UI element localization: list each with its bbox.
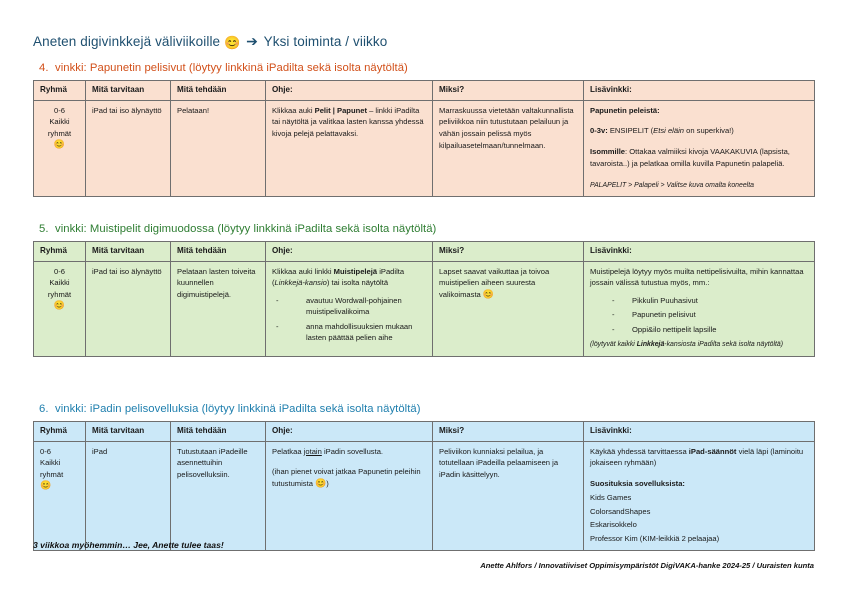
- cell-tarvitaan: iPad: [86, 441, 171, 550]
- ryhma-line2: Kaikki: [40, 457, 79, 469]
- list-item: avautuu Wordwall-pohjainen muistipelival…: [272, 295, 426, 318]
- section-number-6: 6.: [39, 403, 55, 415]
- page-title-prefix: Aneten digivinkkejä väliviikoille: [33, 34, 220, 49]
- ryhma-line2: Kaikki: [40, 277, 79, 289]
- tip-table-4: Ryhmä Mitä tarvitaan Mitä tehdään Ohje: …: [33, 80, 815, 197]
- lisa-app-item: Kids Games: [590, 492, 808, 504]
- lisa-footnote-post: -kansiosta iPadilta sekä isolta näytöltä…: [664, 341, 783, 348]
- ryhma-age: 0-6: [40, 105, 79, 117]
- col-header-ohje: Ohje:: [266, 242, 433, 262]
- cell-tehdaan: Pelataan lasten toiveita kuunnellen digi…: [171, 261, 266, 356]
- col-header-tehdaan: Mitä tehdään: [171, 81, 266, 101]
- lisa-intro: Muistipelejä löytyy myös muilta nettipel…: [590, 266, 808, 290]
- lisa-footnote: (löytyvät kaikki Linkkejä-kansiosta iPad…: [590, 341, 783, 348]
- cell-miksi: Marraskuussa vietetään valtakunnallista …: [433, 100, 584, 197]
- section-tip-6: 6.vinkki: iPadin pelisovelluksia (löytyy…: [33, 403, 814, 551]
- ryhma-age: 0-6: [40, 266, 79, 278]
- col-header-tehdaan: Mitä tehdään: [171, 422, 266, 442]
- lisa-p1-post: on superkiva!): [684, 126, 734, 135]
- ohje-post: iPadin sovellusta.: [322, 447, 383, 456]
- ohje-pre: Klikkaa auki: [272, 106, 315, 115]
- col-header-miksi: Miksi?: [433, 81, 584, 101]
- table-header-row: Ryhmä Mitä tarvitaan Mitä tehdään Ohje: …: [34, 242, 815, 262]
- col-header-ohje: Ohje:: [266, 422, 433, 442]
- lisa-path-hint: PALAPELIT > Palapeli > Valitse kuva omal…: [590, 182, 754, 189]
- arrow-right-icon: ➔: [244, 33, 260, 49]
- smiley-icon: 😊: [40, 140, 79, 149]
- col-header-ohje: Ohje:: [266, 81, 433, 101]
- lisa-age-label: 0-3v:: [590, 126, 608, 135]
- list-item: Pikkulin Puuhasivut: [590, 295, 808, 306]
- lisa-apps-title: Suosituksia sovelluksista:: [590, 479, 685, 488]
- cell-tarvitaan: iPad tai iso älynäyttö: [86, 261, 171, 356]
- footer-note: 3 viikkoa myöhemmin… Jee, Anette tulee t…: [33, 540, 224, 550]
- cell-miksi: Peliviikon kunniaksi pelailua, ja totute…: [433, 441, 584, 550]
- smiley-icon: 😊: [224, 35, 240, 50]
- footer-credit: Anette Ahlfors / Innovatiiviset Oppimisy…: [0, 561, 814, 570]
- lisa-footnote-pre: (löytyvät kaikki: [590, 341, 637, 348]
- lisa-older-label: Isommille: [590, 147, 625, 156]
- cell-ryhma: 0-6 Kaikki ryhmät 😊: [34, 441, 86, 550]
- section-heading-text-6: vinkki: iPadin pelisovelluksia (löytyy l…: [55, 403, 421, 415]
- ohje-pre: Pelatkaa: [272, 447, 304, 456]
- ohje-link-label[interactable]: jotain: [304, 447, 322, 456]
- cell-miksi: Lapset saavat vaikuttaa ja toivoa muisti…: [433, 261, 584, 356]
- list-item: Papunetin pelisivut: [590, 309, 808, 320]
- section-number-5: 5.: [39, 223, 55, 235]
- cell-lisavinkki: Käykää yhdessä tarvittaessa iPad-säännöt…: [584, 441, 815, 550]
- col-header-tarvitaan: Mitä tarvitaan: [86, 422, 171, 442]
- table-row: 0-6 Kaikki ryhmät 😊 iPad tai iso älynäyt…: [34, 100, 815, 197]
- lisa-app-item: Eskarisokkelo: [590, 519, 808, 531]
- ohje-link-label[interactable]: Pelit | Papunet: [315, 106, 367, 115]
- ohje-paren-post: ): [326, 479, 329, 488]
- col-header-tarvitaan: Mitä tarvitaan: [86, 242, 171, 262]
- section-number-4: 4.: [39, 62, 55, 74]
- smiley-icon: 😊: [40, 301, 79, 310]
- col-header-ryhma: Ryhmä: [34, 242, 86, 262]
- col-header-tehdaan: Mitä tehdään: [171, 242, 266, 262]
- lisa-bullet-list: Pikkulin Puuhasivut Papunetin pelisivut …: [590, 295, 808, 335]
- lisa-rules-label: iPad-säännöt: [689, 447, 737, 456]
- cell-ryhma: 0-6 Kaikki ryhmät 😊: [34, 261, 86, 356]
- lisa-title: Papunetin peleistä:: [590, 106, 660, 115]
- ohje-folder-name: Linkkejä-kansio: [275, 278, 327, 287]
- section-heading-6: 6.vinkki: iPadin pelisovelluksia (löytyy…: [33, 403, 814, 415]
- table-header-row: Ryhmä Mitä tarvitaan Mitä tehdään Ohje: …: [34, 81, 815, 101]
- col-header-miksi: Miksi?: [433, 422, 584, 442]
- cell-tehdaan: Tutustutaan iPadeille asennettuihin peli…: [171, 441, 266, 550]
- document-page: Aneten digivinkkejä väliviikoille 😊 ➔ Yk…: [0, 0, 842, 595]
- col-header-tarvitaan: Mitä tarvitaan: [86, 81, 171, 101]
- col-header-ryhma: Ryhmä: [34, 81, 86, 101]
- table-header-row: Ryhmä Mitä tarvitaan Mitä tehdään Ohje: …: [34, 422, 815, 442]
- cell-ohje: Pelatkaa jotain iPadin sovellusta. (ihan…: [266, 441, 433, 550]
- ohje-bullet-list: avautuu Wordwall-pohjainen muistipelival…: [272, 295, 426, 344]
- list-item: Oppi&ilo nettipelit lapsille: [590, 324, 808, 335]
- cell-lisavinkki: Muistipelejä löytyy myös muilta nettipel…: [584, 261, 815, 356]
- cell-ohje: Klikkaa auki Pelit | Papunet – linkki iP…: [266, 100, 433, 197]
- cell-tarvitaan: iPad tai iso älynäyttö: [86, 100, 171, 197]
- lisa-app-item: ColorsandShapes: [590, 506, 808, 518]
- lisa-app-item: Professor Kim (KIM-leikkiä 2 pelaajaa): [590, 533, 808, 545]
- table-row: 0-6 Kaikki ryhmät 😊 iPad tai iso älynäyt…: [34, 261, 815, 356]
- lisa-game-name: Etsi eläin: [653, 126, 684, 135]
- lisa-p1-pre: Käykää yhdessä tarvittaessa: [590, 447, 689, 456]
- lisa-footnote-folder: Linkkejä: [637, 341, 665, 348]
- section-heading-text-4: vinkki: Papunetin pelisivut (löytyy link…: [55, 62, 408, 74]
- lisa-p1-pre: ENSIPELIT (: [608, 126, 653, 135]
- ohje-post: ) tai isolta näytöltä: [327, 278, 388, 287]
- col-header-miksi: Miksi?: [433, 242, 584, 262]
- ohje-link-label[interactable]: Muistipelejä: [334, 267, 377, 276]
- ryhma-age: 0-6: [40, 446, 79, 458]
- page-title: Aneten digivinkkejä väliviikoille 😊 ➔ Yk…: [33, 33, 387, 51]
- tip-table-6: Ryhmä Mitä tarvitaan Mitä tehdään Ohje: …: [33, 421, 815, 551]
- list-item: anna mahdollisuuksien mukaan lasten päät…: [272, 321, 426, 344]
- page-title-suffix: Yksi toiminta / viikko: [264, 34, 388, 49]
- section-heading-5: 5.vinkki: Muistipelit digimuodossa (löyt…: [33, 223, 814, 235]
- smiley-icon: 😊: [315, 478, 326, 488]
- section-heading-4: 4.vinkki: Papunetin pelisivut (löytyy li…: [33, 62, 814, 74]
- section-tip-5: 5.vinkki: Muistipelit digimuodossa (löyt…: [33, 223, 814, 357]
- ohje-paren-pre: (ihan pienet voivat jatkaa Papunetin pel…: [272, 467, 421, 488]
- cell-lisavinkki: Papunetin peleistä: 0-3v: ENSIPELIT (Ets…: [584, 100, 815, 197]
- tip-table-5: Ryhmä Mitä tarvitaan Mitä tehdään Ohje: …: [33, 241, 815, 357]
- col-header-lisavinkki: Lisävinkki:: [584, 422, 815, 442]
- smiley-icon: 😊: [40, 481, 79, 490]
- cell-ohje: Klikkaa auki linkki Muistipelejä iPadilt…: [266, 261, 433, 356]
- col-header-lisavinkki: Lisävinkki:: [584, 81, 815, 101]
- cell-ryhma: 0-6 Kaikki ryhmät 😊: [34, 100, 86, 197]
- col-header-lisavinkki: Lisävinkki:: [584, 242, 815, 262]
- cell-tehdaan: Pelataan!: [171, 100, 266, 197]
- section-tip-4: 4.vinkki: Papunetin pelisivut (löytyy li…: [33, 62, 814, 197]
- col-header-ryhma: Ryhmä: [34, 422, 86, 442]
- smiley-icon: 😊: [483, 289, 494, 299]
- ohje-pre: Klikkaa auki linkki: [272, 267, 334, 276]
- table-row: 0-6 Kaikki ryhmät 😊 iPad Tutustutaan iPa…: [34, 441, 815, 550]
- section-heading-text-5: vinkki: Muistipelit digimuodossa (löytyy…: [55, 223, 436, 235]
- ryhma-line2: Kaikki: [40, 116, 79, 128]
